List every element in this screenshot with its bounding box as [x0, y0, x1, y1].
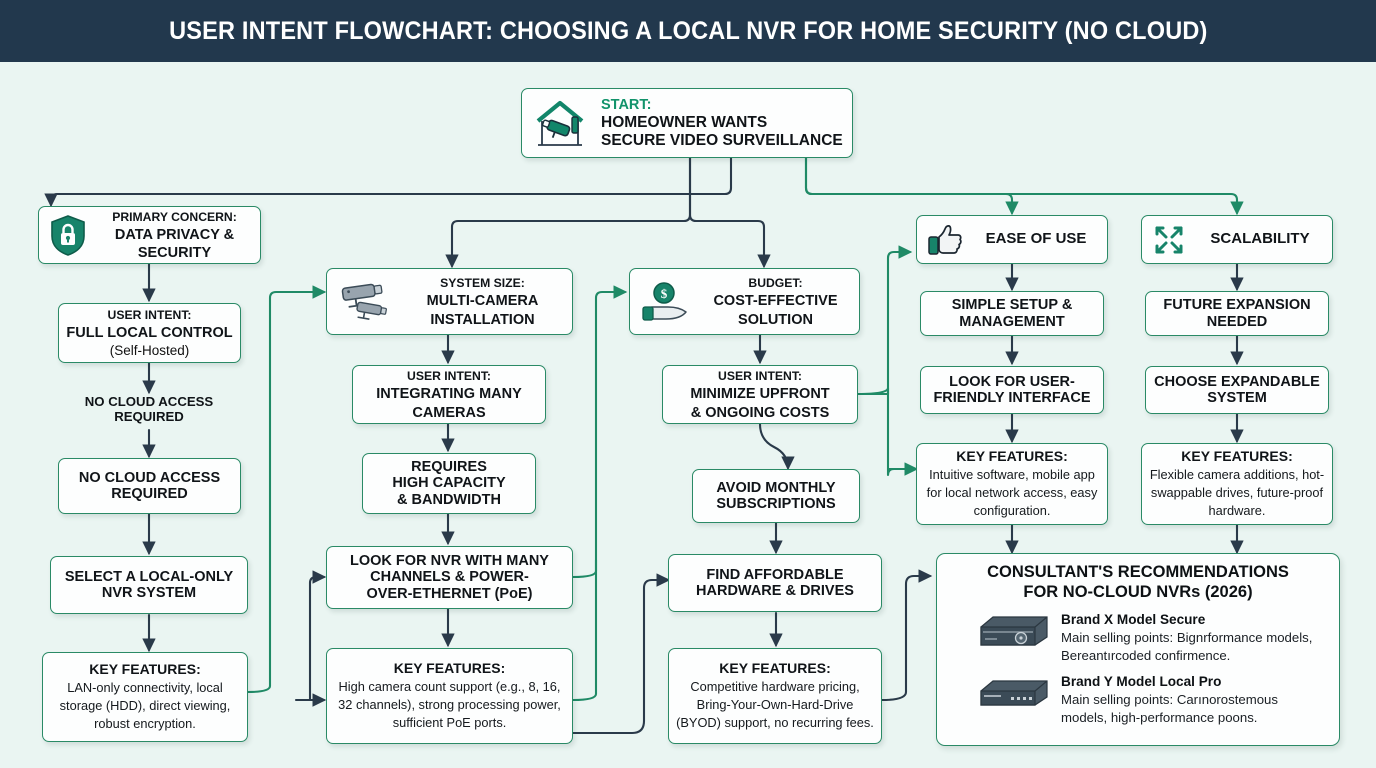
primary-concern-text: PRIMARY CONCERN: DATA PRIVACY & SECURITY [96, 208, 253, 262]
key-features-title-3: KEY FEATURES: [719, 660, 831, 676]
node-avoid-monthly-subscriptions[interactable]: AVOID MONTHLY SUBSCRIPTIONS [692, 469, 860, 523]
start-line2: SECURE VIDEO SURVEILLANCE [601, 132, 843, 149]
full-local-control-main: FULL LOCAL CONTROL [66, 325, 232, 341]
node-future-expansion[interactable]: FUTURE EXPANSION NEEDED [1145, 291, 1329, 336]
future-expansion-main: FUTURE EXPANSION NEEDED [1153, 297, 1321, 330]
start-line1: HOMEOWNER WANTS [601, 114, 767, 131]
recommendation-name: Brand Y Model Local Pro [1061, 674, 1221, 689]
key-features-body-2: High camera count support (e.g., 8, 16, … [338, 679, 561, 730]
no-cloud-access-main: NO CLOUD ACCESS REQUIRED [66, 470, 233, 503]
user-friendly-main: LOOK FOR USER- FRIENDLY INTERFACE [928, 374, 1096, 407]
ease-of-use-main: EASE OF USE [972, 231, 1100, 248]
money-hand-icon: $ [638, 279, 692, 325]
requires-high-capacity-main: REQUIRES HIGH CAPACITY & BANDWIDTH [370, 459, 528, 508]
start-label: START: [601, 97, 651, 113]
key-features-body-5: Flexible camera additions, hot-swappable… [1150, 467, 1324, 518]
choose-expandable-main: CHOOSE EXPANDABLE SYSTEM [1153, 374, 1321, 407]
system-size-main: MULTI-CAMERA INSTALLATION [427, 293, 539, 327]
svg-text:$: $ [661, 286, 668, 301]
node-requires-high-capacity[interactable]: REQUIRES HIGH CAPACITY & BANDWIDTH [362, 453, 536, 514]
node-simple-setup[interactable]: SIMPLE SETUP & MANAGEMENT [920, 291, 1104, 336]
budget-main: COST-EFFECTIVE SOLUTION [713, 293, 837, 327]
node-find-affordable-hardware[interactable]: FIND AFFORDABLE HARDWARE & DRIVES [668, 554, 882, 612]
node-look-for-nvr-channels-poe[interactable]: LOOK FOR NVR WITH MANY CHANNELS & POWER-… [326, 546, 573, 609]
user-intent-label-2: USER INTENT: [407, 369, 491, 383]
shield-lock-icon [47, 213, 89, 257]
key-features-title-2: KEY FEATURES: [394, 660, 506, 676]
recommendations-title-line1: CONSULTANT'S RECOMMENDATIONS [987, 563, 1289, 581]
key-features-title-4: KEY FEATURES: [956, 448, 1068, 464]
look-for-nvr-main: LOOK FOR NVR WITH MANY CHANNELS & POWER-… [334, 553, 565, 602]
key-features-body-4: Intuitive software, mobile app for local… [927, 467, 1098, 518]
nvr-device-icon [977, 611, 1051, 653]
node-budget[interactable]: $ BUDGET: COST-EFFECTIVE SOLUTION [629, 268, 860, 335]
primary-concern-main: DATA PRIVACY & SECURITY [115, 227, 234, 261]
key-features-body-1: LAN-only connectivity, local storage (HD… [60, 680, 231, 731]
user-intent-label-1: USER INTENT: [108, 308, 192, 322]
flowchart-canvas: USER INTENT FLOWCHART: CHOOSING A LOCAL … [0, 0, 1376, 768]
node-key-features-ease-of-use[interactable]: KEY FEATURES: Intuitive software, mobile… [916, 443, 1108, 525]
node-minimize-costs[interactable]: USER INTENT: MINIMIZE UPFRONT & ONGOING … [662, 365, 858, 424]
node-key-features-privacy[interactable]: KEY FEATURES: LAN-only connectivity, loc… [42, 652, 248, 742]
node-scalability[interactable]: SCALABILITY [1141, 215, 1333, 264]
node-full-local-control[interactable]: USER INTENT: FULL LOCAL CONTROL (Self-Ho… [58, 303, 241, 363]
node-system-size[interactable]: SYSTEM SIZE: MULTI-CAMERA INSTALLATION [326, 268, 573, 335]
node-no-cloud-access-required[interactable]: NO CLOUD ACCESS REQUIRED [58, 458, 241, 514]
node-integrating-many-cameras[interactable]: USER INTENT: INTEGRATING MANY CAMERAS [352, 365, 546, 424]
node-key-features-scalability[interactable]: KEY FEATURES: Flexible camera additions,… [1141, 443, 1333, 525]
node-key-features-budget[interactable]: KEY FEATURES: Competitive hardware prici… [668, 648, 882, 744]
node-start[interactable]: START: HOMEOWNER WANTS SECURE VIDEO SURV… [521, 88, 853, 158]
recommendation-item[interactable]: Brand Y Model Local Pro Main selling poi… [949, 673, 1327, 727]
cctv-cameras-icon [335, 278, 393, 326]
full-local-control-sub: (Self-Hosted) [110, 343, 190, 358]
node-primary-concern[interactable]: PRIMARY CONCERN: DATA PRIVACY & SECURITY [38, 206, 261, 264]
node-ease-of-use[interactable]: EASE OF USE [916, 215, 1108, 264]
minimize-costs-main: MINIMIZE UPFRONT & ONGOING COSTS [690, 386, 829, 420]
recommendations-title: CONSULTANT'S RECOMMENDATIONS FOR NO-CLOU… [949, 563, 1327, 603]
recommendation-desc: Main selling points: Bignrformance model… [1061, 630, 1312, 663]
primary-concern-label: PRIMARY CONCERN: [112, 210, 237, 224]
select-local-only-main: SELECT A LOCAL-ONLY NVR SYSTEM [58, 569, 240, 602]
find-affordable-main: FIND AFFORDABLE HARDWARE & DRIVES [676, 567, 874, 600]
nvr-device-slim-icon [977, 673, 1051, 715]
integrating-cameras-main: INTEGRATING MANY CAMERAS [376, 386, 522, 420]
expand-arrows-icon [1150, 221, 1188, 259]
user-intent-label-3: USER INTENT: [718, 369, 802, 383]
key-features-title-1: KEY FEATURES: [89, 661, 201, 677]
budget-label: BUDGET: [748, 276, 802, 290]
node-key-features-system-size[interactable]: KEY FEATURES: High camera count support … [326, 648, 573, 744]
node-choose-expandable-system[interactable]: CHOOSE EXPANDABLE SYSTEM [1145, 366, 1329, 414]
recommendations-title-line2: FOR NO-CLOUD NVRs (2026) [1023, 583, 1252, 601]
node-select-local-only-nvr[interactable]: SELECT A LOCAL-ONLY NVR SYSTEM [50, 556, 248, 614]
scalability-main: SCALABILITY [1195, 231, 1325, 248]
node-user-friendly-interface[interactable]: LOOK FOR USER- FRIENDLY INTERFACE [920, 366, 1104, 414]
label-no-cloud-access-required: NO CLOUD ACCESS REQUIRED [54, 394, 244, 425]
recommendations-panel: CONSULTANT'S RECOMMENDATIONS FOR NO-CLOU… [936, 553, 1340, 746]
recommendation-item[interactable]: Brand X Model Secure Main selling points… [949, 611, 1327, 665]
key-features-body-3: Competitive hardware pricing, Bring-Your… [676, 679, 874, 730]
thumbs-up-icon [925, 221, 965, 259]
recommendation-name: Brand X Model Secure [1061, 612, 1205, 627]
key-features-title-5: KEY FEATURES: [1181, 448, 1293, 464]
start-text: START: HOMEOWNER WANTS SECURE VIDEO SURV… [597, 96, 845, 150]
house-camera-icon [530, 95, 590, 151]
system-size-label: SYSTEM SIZE: [440, 276, 525, 290]
avoid-subscriptions-main: AVOID MONTHLY SUBSCRIPTIONS [700, 480, 852, 513]
simple-setup-main: SIMPLE SETUP & MANAGEMENT [928, 297, 1096, 330]
recommendation-desc: Main selling points: Carınorostemous mod… [1061, 692, 1278, 725]
